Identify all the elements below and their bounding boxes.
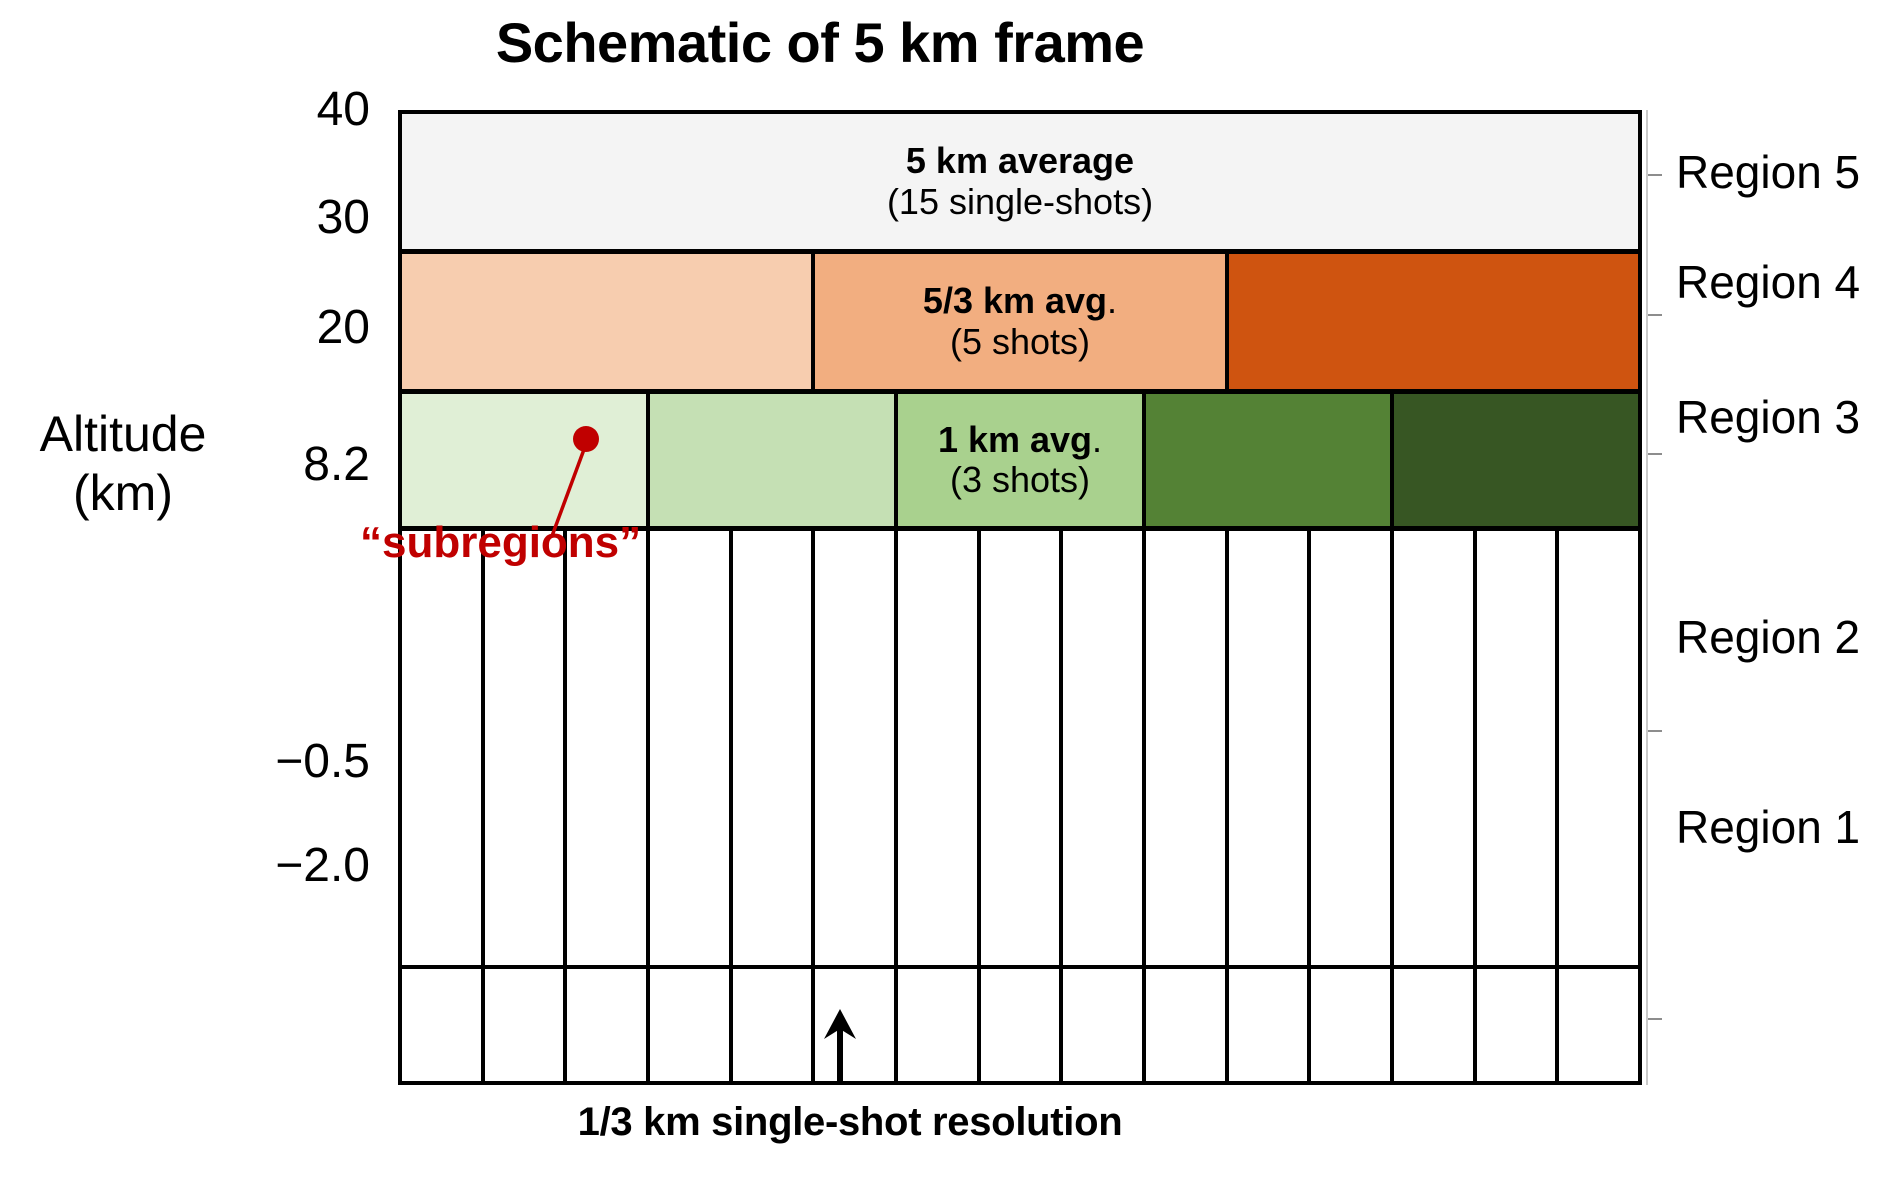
band-cell-5over3-1 [402, 254, 815, 389]
region-label-5: Region 5 [1676, 145, 1860, 199]
band-label-1km: 1 km avg. [938, 420, 1102, 460]
grid-column [1146, 531, 1229, 1082]
band-sublabel-5over3km: (5 shots) [950, 322, 1090, 362]
altitude-divider-neg05 [402, 965, 1638, 969]
band-cell-5km-1: 5 km average (15 single-shots) [402, 114, 1638, 249]
band-label-1km-text: 1 km avg [938, 419, 1092, 460]
grid-column [567, 531, 650, 1082]
region-label-1: Region 1 [1676, 800, 1860, 854]
band-label-5over3km-period: . [1107, 280, 1117, 321]
page-title: Schematic of 5 km frame [0, 10, 1640, 75]
grid-column [1229, 531, 1312, 1082]
band-1km-average: 1 km avg. (3 shots) [402, 394, 1638, 531]
subregion-marker-dot [573, 426, 599, 452]
schematic-plot-area: 5 km average (15 single-shots) 5/3 km av… [398, 110, 1642, 1085]
grid-column [485, 531, 568, 1082]
region-bracket-axis [1646, 110, 1660, 1085]
resolution-caption: 1/3 km single-shot resolution [0, 1100, 1700, 1145]
grid-column [1394, 531, 1477, 1082]
grid-column [815, 531, 898, 1082]
grid-column [898, 531, 981, 1082]
region-label-3: Region 3 [1676, 390, 1860, 444]
band-cell-5over3-2: 5/3 km avg. (5 shots) [815, 254, 1228, 389]
region-tick-1 [1648, 1018, 1662, 1020]
band-cell-1km-3: 1 km avg. (3 shots) [898, 394, 1146, 526]
single-shot-grid [402, 531, 1638, 1082]
up-arrow-icon [800, 1005, 880, 1085]
band-5km-average: 5 km average (15 single-shots) [402, 114, 1638, 254]
y-tick-20: 20 [190, 300, 370, 355]
band-label-1km-period: . [1092, 419, 1102, 460]
band-label-5over3km-text: 5/3 km avg [923, 280, 1107, 321]
band-label-5km: 5 km average [906, 141, 1134, 181]
y-tick-neg20: −2.0 [190, 838, 370, 893]
region-label-4: Region 4 [1676, 255, 1860, 309]
grid-column [1311, 531, 1394, 1082]
grid-column [981, 531, 1064, 1082]
band-sublabel-5km: (15 single-shots) [887, 182, 1153, 222]
band-label-5over3km: 5/3 km avg. [923, 281, 1117, 321]
band-cell-1km-5 [1394, 394, 1638, 526]
region-tick-3 [1648, 453, 1662, 455]
y-tick-neg05: −0.5 [190, 734, 370, 789]
grid-column [1559, 531, 1638, 1082]
region-tick-2 [1648, 730, 1662, 732]
y-tick-30: 30 [190, 190, 370, 245]
band-5over3km-average: 5/3 km avg. (5 shots) [402, 254, 1638, 394]
band-cell-1km-2 [650, 394, 898, 526]
grid-column [1477, 531, 1560, 1082]
grid-column [1063, 531, 1146, 1082]
region-tick-5 [1648, 174, 1662, 176]
band-cell-1km-4 [1146, 394, 1394, 526]
y-tick-40: 40 [190, 82, 370, 137]
band-sublabel-1km: (3 shots) [950, 460, 1090, 500]
region-label-2: Region 2 [1676, 610, 1860, 664]
grid-column [733, 531, 816, 1082]
y-tick-8.2: 8.2 [190, 437, 370, 492]
band-cell-1km-1 [402, 394, 650, 526]
band-cell-5over3-3 [1229, 254, 1638, 389]
region-tick-4 [1648, 314, 1662, 316]
grid-column [650, 531, 733, 1082]
subregion-annotation-label: “subregions” [360, 518, 641, 568]
grid-column [402, 531, 485, 1082]
